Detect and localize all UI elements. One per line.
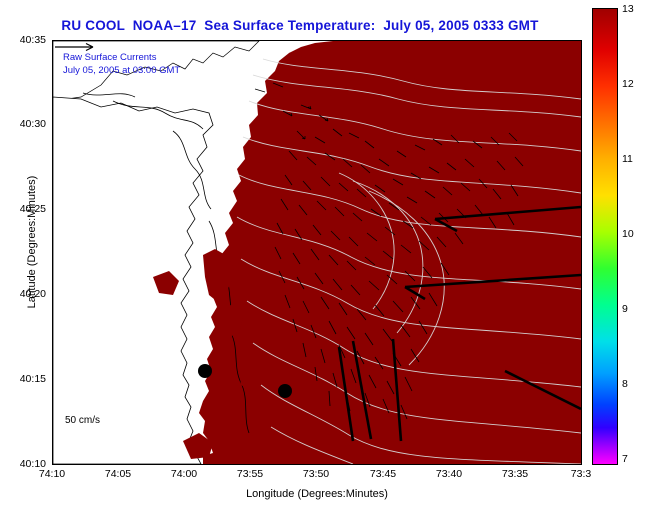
annotation-currents-line1: Raw Surface Currents <box>63 52 156 63</box>
colorbar <box>592 8 618 465</box>
colorbar-tick-9: 9 <box>622 303 628 315</box>
colorbar-tick-7: 7 <box>622 453 628 465</box>
colorbar-tick-13: 13 <box>622 3 634 15</box>
x-tick-6: 73:40 <box>421 468 477 480</box>
sst-map-plot: Raw Surface Currents July 05, 2005 at 03… <box>52 40 582 465</box>
scale-vector-arrow <box>53 41 99 53</box>
y-axis-label: Latitude (Degrees:Minutes) <box>26 122 38 362</box>
x-tick-5: 73:45 <box>355 468 411 480</box>
colorbar-tick-12: 12 <box>622 78 634 90</box>
x-tick-2: 74:00 <box>156 468 212 480</box>
colorbar-tick-11: 11 <box>622 153 633 165</box>
y-tick-2: 40:25 <box>2 203 46 215</box>
colorbar-tick-10: 10 <box>622 228 634 240</box>
x-tick-1: 74:05 <box>90 468 146 480</box>
x-tick-8: 73:3 <box>553 468 609 480</box>
radar-site-marker <box>198 364 212 378</box>
y-tick-1: 40:30 <box>2 118 46 130</box>
annotation-currents-line2: July 05, 2005 at 03:00 GMT <box>63 65 180 76</box>
y-tick-3: 40:20 <box>2 288 46 300</box>
chart-title: RU COOL NOAA–17 Sea Surface Temperature:… <box>0 18 600 33</box>
colorbar-tick-8: 8 <box>622 378 628 390</box>
x-tick-3: 73:55 <box>222 468 278 480</box>
y-tick-4: 40:15 <box>2 373 46 385</box>
x-tick-4: 73:50 <box>288 468 344 480</box>
x-tick-0: 74:10 <box>24 468 80 480</box>
x-tick-7: 73:35 <box>487 468 543 480</box>
x-axis-label: Longitude (Degrees:Minutes) <box>52 488 582 500</box>
sst-map-canvas <box>53 41 581 464</box>
scale-vector-label: 50 cm/s <box>65 415 100 426</box>
radar-site-marker <box>278 384 292 398</box>
y-tick-0: 40:35 <box>2 34 46 46</box>
